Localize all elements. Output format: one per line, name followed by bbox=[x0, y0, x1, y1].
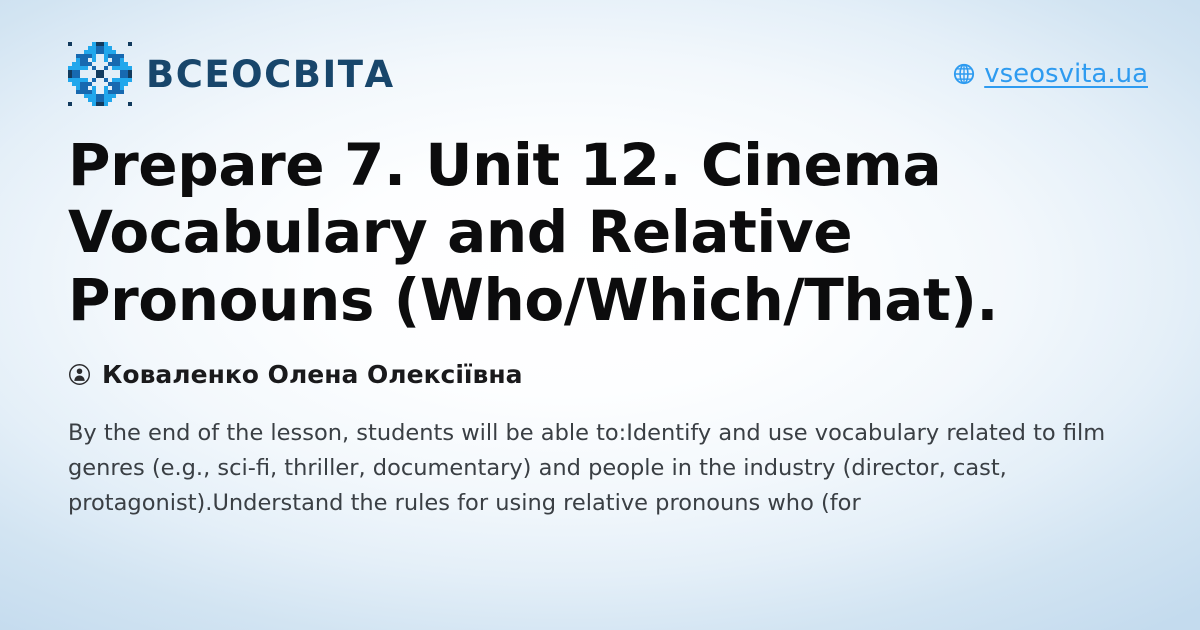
vseosvita-ornament-logo-icon bbox=[68, 42, 132, 106]
description-text: By the end of the lesson, students will … bbox=[68, 416, 1130, 521]
site-url-link[interactable]: vseosvita.ua bbox=[953, 60, 1148, 89]
brand-wordmark: ВСЕОСВІТА bbox=[146, 56, 395, 93]
share-card: ВСЕОСВІТА vseosvita.ua Prepare 7. Unit 1… bbox=[0, 0, 1200, 630]
brand-logo[interactable]: ВСЕОСВІТА bbox=[68, 42, 395, 106]
page-title: Prepare 7. Unit 12. Cinema Vocabulary an… bbox=[68, 132, 1128, 334]
author-byline[interactable]: Коваленко Олена Олексіївна bbox=[68, 360, 1148, 390]
card-content: Prepare 7. Unit 12. Cinema Vocabulary an… bbox=[68, 132, 1148, 520]
user-circle-icon bbox=[68, 363, 91, 386]
card-header: ВСЕОСВІТА vseosvita.ua bbox=[68, 38, 1148, 110]
site-url-text: vseosvita.ua bbox=[984, 60, 1148, 89]
author-name: Коваленко Олена Олексіївна bbox=[102, 360, 522, 390]
globe-icon bbox=[953, 63, 975, 85]
